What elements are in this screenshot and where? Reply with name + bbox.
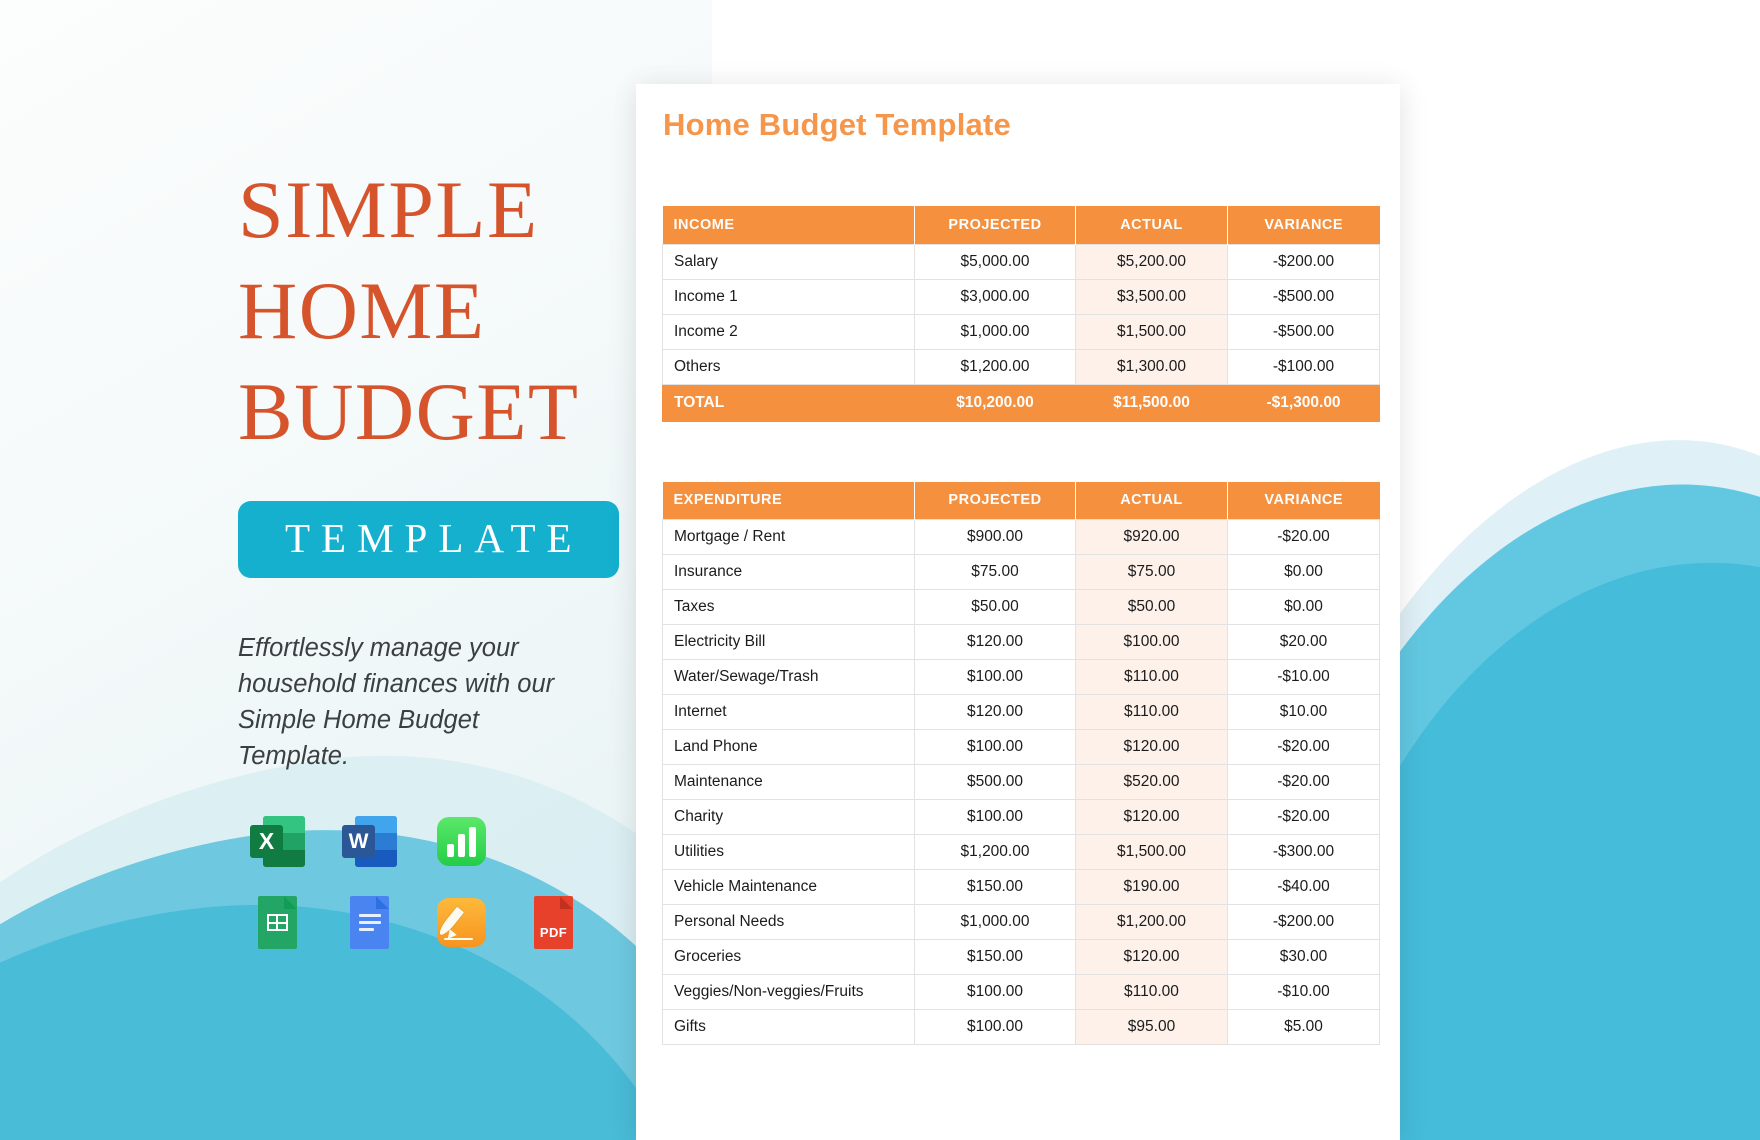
income-header-variance: VARIANCE xyxy=(1228,206,1380,244)
expenditure-cell-projected: $900.00 xyxy=(915,520,1076,555)
expenditure-cell-actual: $110.00 xyxy=(1076,695,1228,730)
expenditure-table: EXPENDITURE PROJECTED ACTUAL VARIANCE Mo… xyxy=(662,482,1380,1046)
expenditure-cell-projected: $100.00 xyxy=(915,730,1076,765)
expenditure-cell-name: Mortgage / Rent xyxy=(663,520,915,555)
income-cell-name: TOTAL xyxy=(663,384,915,421)
table-row: Charity$100.00$120.00-$20.00 xyxy=(663,800,1380,835)
expenditure-header-variance: VARIANCE xyxy=(1228,482,1380,520)
expenditure-cell-actual: $120.00 xyxy=(1076,730,1228,765)
table-row: Veggies/Non-veggies/Fruits$100.00$110.00… xyxy=(663,975,1380,1010)
format-icons-row-2: PDF xyxy=(250,895,658,950)
income-cell-name: Income 2 xyxy=(663,314,915,349)
expenditure-cell-name: Personal Needs xyxy=(663,905,915,940)
expenditure-cell-actual: $1,500.00 xyxy=(1076,835,1228,870)
expenditure-cell-actual: $75.00 xyxy=(1076,555,1228,590)
promo-content: SIMPLE HOME BUDGET TEMPLATE Effortlessly… xyxy=(238,160,658,950)
table-row: Income 1$3,000.00$3,500.00-$500.00 xyxy=(663,279,1380,314)
expenditure-cell-variance: -$20.00 xyxy=(1228,730,1380,765)
expenditure-cell-actual: $100.00 xyxy=(1076,625,1228,660)
income-cell-name: Income 1 xyxy=(663,279,915,314)
income-table-body: Salary$5,000.00$5,200.00-$200.00Income 1… xyxy=(663,244,1380,421)
table-row: Water/Sewage/Trash$100.00$110.00-$10.00 xyxy=(663,660,1380,695)
template-badge: TEMPLATE xyxy=(238,501,619,578)
right-wave-decoration xyxy=(1340,0,1760,1140)
expenditure-cell-name: Water/Sewage/Trash xyxy=(663,660,915,695)
table-row: Salary$5,000.00$5,200.00-$200.00 xyxy=(663,244,1380,279)
expenditure-cell-projected: $120.00 xyxy=(915,695,1076,730)
google-sheets-icon[interactable] xyxy=(250,895,305,950)
expenditure-cell-projected: $50.00 xyxy=(915,590,1076,625)
expenditure-table-body: Mortgage / Rent$900.00$920.00-$20.00Insu… xyxy=(663,520,1380,1045)
expenditure-cell-projected: $1,200.00 xyxy=(915,835,1076,870)
income-cell-projected: $3,000.00 xyxy=(915,279,1076,314)
expenditure-cell-name: Charity xyxy=(663,800,915,835)
expenditure-cell-variance: -$10.00 xyxy=(1228,975,1380,1010)
income-cell-actual: $1,500.00 xyxy=(1076,314,1228,349)
table-row: Insurance$75.00$75.00$0.00 xyxy=(663,555,1380,590)
table-row: Personal Needs$1,000.00$1,200.00-$200.00 xyxy=(663,905,1380,940)
income-cell-projected: $1,200.00 xyxy=(915,349,1076,384)
table-row: Land Phone$100.00$120.00-$20.00 xyxy=(663,730,1380,765)
expenditure-cell-actual: $50.00 xyxy=(1076,590,1228,625)
google-docs-icon[interactable] xyxy=(342,895,397,950)
word-icon[interactable]: W xyxy=(342,814,397,869)
promo-description: Effortlessly manage your household finan… xyxy=(238,630,588,775)
income-cell-variance: -$1,300.00 xyxy=(1228,384,1380,421)
expenditure-cell-actual: $95.00 xyxy=(1076,1010,1228,1045)
format-icons-row-1: X W xyxy=(250,814,658,869)
expenditure-cell-actual: $110.00 xyxy=(1076,660,1228,695)
expenditure-cell-projected: $100.00 xyxy=(915,800,1076,835)
expenditure-cell-actual: $920.00 xyxy=(1076,520,1228,555)
expenditure-cell-actual: $1,200.00 xyxy=(1076,905,1228,940)
table-row: Utilities$1,200.00$1,500.00-$300.00 xyxy=(663,835,1380,870)
income-header-label: INCOME xyxy=(663,206,915,244)
expenditure-cell-name: Maintenance xyxy=(663,765,915,800)
expenditure-cell-actual: $120.00 xyxy=(1076,800,1228,835)
expenditure-cell-projected: $100.00 xyxy=(915,975,1076,1010)
expenditure-header-row: EXPENDITURE PROJECTED ACTUAL VARIANCE xyxy=(663,482,1380,520)
income-total-row: TOTAL$10,200.00$11,500.00-$1,300.00 xyxy=(663,384,1380,421)
income-cell-actual: $11,500.00 xyxy=(1076,384,1228,421)
expenditure-cell-name: Groceries xyxy=(663,940,915,975)
numbers-icon[interactable] xyxy=(434,814,489,869)
expenditure-cell-actual: $120.00 xyxy=(1076,940,1228,975)
expenditure-header-projected: PROJECTED xyxy=(915,482,1076,520)
income-header-projected: PROJECTED xyxy=(915,206,1076,244)
expenditure-cell-projected: $1,000.00 xyxy=(915,905,1076,940)
title-line-1: SIMPLE xyxy=(238,160,658,261)
expenditure-cell-name: Gifts xyxy=(663,1010,915,1045)
income-cell-actual: $5,200.00 xyxy=(1076,244,1228,279)
expenditure-cell-name: Land Phone xyxy=(663,730,915,765)
table-row: Maintenance$500.00$520.00-$20.00 xyxy=(663,765,1380,800)
income-header-actual: ACTUAL xyxy=(1076,206,1228,244)
expenditure-header-actual: ACTUAL xyxy=(1076,482,1228,520)
expenditure-cell-name: Electricity Bill xyxy=(663,625,915,660)
income-table-head: INCOME PROJECTED ACTUAL VARIANCE xyxy=(663,206,1380,244)
income-cell-variance: -$500.00 xyxy=(1228,279,1380,314)
expenditure-cell-variance: -$20.00 xyxy=(1228,765,1380,800)
income-cell-projected: $5,000.00 xyxy=(915,244,1076,279)
expenditure-cell-variance: $30.00 xyxy=(1228,940,1380,975)
income-cell-actual: $1,300.00 xyxy=(1076,349,1228,384)
income-cell-variance: -$200.00 xyxy=(1228,244,1380,279)
income-cell-name: Others xyxy=(663,349,915,384)
expenditure-cell-variance: -$40.00 xyxy=(1228,870,1380,905)
apple-pages-icon[interactable] xyxy=(434,895,489,950)
expenditure-cell-projected: $100.00 xyxy=(915,660,1076,695)
page-title: SIMPLE HOME BUDGET xyxy=(238,160,658,463)
expenditure-table-head: EXPENDITURE PROJECTED ACTUAL VARIANCE xyxy=(663,482,1380,520)
left-promo-panel: SIMPLE HOME BUDGET TEMPLATE Effortlessly… xyxy=(0,0,712,1140)
expenditure-cell-variance: $20.00 xyxy=(1228,625,1380,660)
income-cell-variance: -$500.00 xyxy=(1228,314,1380,349)
expenditure-cell-name: Vehicle Maintenance xyxy=(663,870,915,905)
income-table: INCOME PROJECTED ACTUAL VARIANCE Salary$… xyxy=(662,206,1380,422)
excel-icon[interactable]: X xyxy=(250,814,305,869)
expenditure-cell-actual: $520.00 xyxy=(1076,765,1228,800)
document-title: Home Budget Template xyxy=(663,107,1400,143)
table-row: Taxes$50.00$50.00$0.00 xyxy=(663,590,1380,625)
expenditure-cell-name: Veggies/Non-veggies/Fruits xyxy=(663,975,915,1010)
expenditure-cell-name: Internet xyxy=(663,695,915,730)
expenditure-cell-variance: -$300.00 xyxy=(1228,835,1380,870)
table-row: Gifts$100.00$95.00$5.00 xyxy=(663,1010,1380,1045)
expenditure-cell-variance: $5.00 xyxy=(1228,1010,1380,1045)
expenditure-cell-variance: -$10.00 xyxy=(1228,660,1380,695)
pdf-icon-label: PDF xyxy=(534,925,573,940)
income-cell-name: Salary xyxy=(663,244,915,279)
table-row: Mortgage / Rent$900.00$920.00-$20.00 xyxy=(663,520,1380,555)
expenditure-cell-name: Insurance xyxy=(663,555,915,590)
expenditure-header-label: EXPENDITURE xyxy=(663,482,915,520)
expenditure-cell-variance: $10.00 xyxy=(1228,695,1380,730)
excel-icon-letter: X xyxy=(250,825,283,858)
income-cell-variance: -$100.00 xyxy=(1228,349,1380,384)
expenditure-cell-actual: $190.00 xyxy=(1076,870,1228,905)
budget-document-preview: Home Budget Template INCOME PROJECTED AC… xyxy=(636,84,1400,1140)
expenditure-cell-name: Taxes xyxy=(663,590,915,625)
expenditure-cell-name: Utilities xyxy=(663,835,915,870)
expenditure-cell-projected: $500.00 xyxy=(915,765,1076,800)
income-header-row: INCOME PROJECTED ACTUAL VARIANCE xyxy=(663,206,1380,244)
expenditure-cell-variance: -$20.00 xyxy=(1228,800,1380,835)
table-row: Internet$120.00$110.00$10.00 xyxy=(663,695,1380,730)
expenditure-cell-projected: $75.00 xyxy=(915,555,1076,590)
expenditure-cell-variance: -$20.00 xyxy=(1228,520,1380,555)
word-icon-letter: W xyxy=(342,825,375,858)
table-row: Others$1,200.00$1,300.00-$100.00 xyxy=(663,349,1380,384)
expenditure-cell-variance: -$200.00 xyxy=(1228,905,1380,940)
table-row: Income 2$1,000.00$1,500.00-$500.00 xyxy=(663,314,1380,349)
expenditure-cell-projected: $120.00 xyxy=(915,625,1076,660)
expenditure-cell-projected: $150.00 xyxy=(915,870,1076,905)
title-line-3: BUDGET xyxy=(238,362,658,463)
income-cell-projected: $10,200.00 xyxy=(915,384,1076,421)
table-row: Groceries$150.00$120.00$30.00 xyxy=(663,940,1380,975)
expenditure-cell-projected: $100.00 xyxy=(915,1010,1076,1045)
table-row: Vehicle Maintenance$150.00$190.00-$40.00 xyxy=(663,870,1380,905)
title-line-2: HOME xyxy=(238,261,658,362)
table-row: Electricity Bill$120.00$100.00$20.00 xyxy=(663,625,1380,660)
income-cell-actual: $3,500.00 xyxy=(1076,279,1228,314)
expenditure-cell-projected: $150.00 xyxy=(915,940,1076,975)
income-cell-projected: $1,000.00 xyxy=(915,314,1076,349)
pdf-icon[interactable]: PDF xyxy=(526,895,581,950)
expenditure-cell-actual: $110.00 xyxy=(1076,975,1228,1010)
expenditure-cell-variance: $0.00 xyxy=(1228,555,1380,590)
expenditure-cell-variance: $0.00 xyxy=(1228,590,1380,625)
